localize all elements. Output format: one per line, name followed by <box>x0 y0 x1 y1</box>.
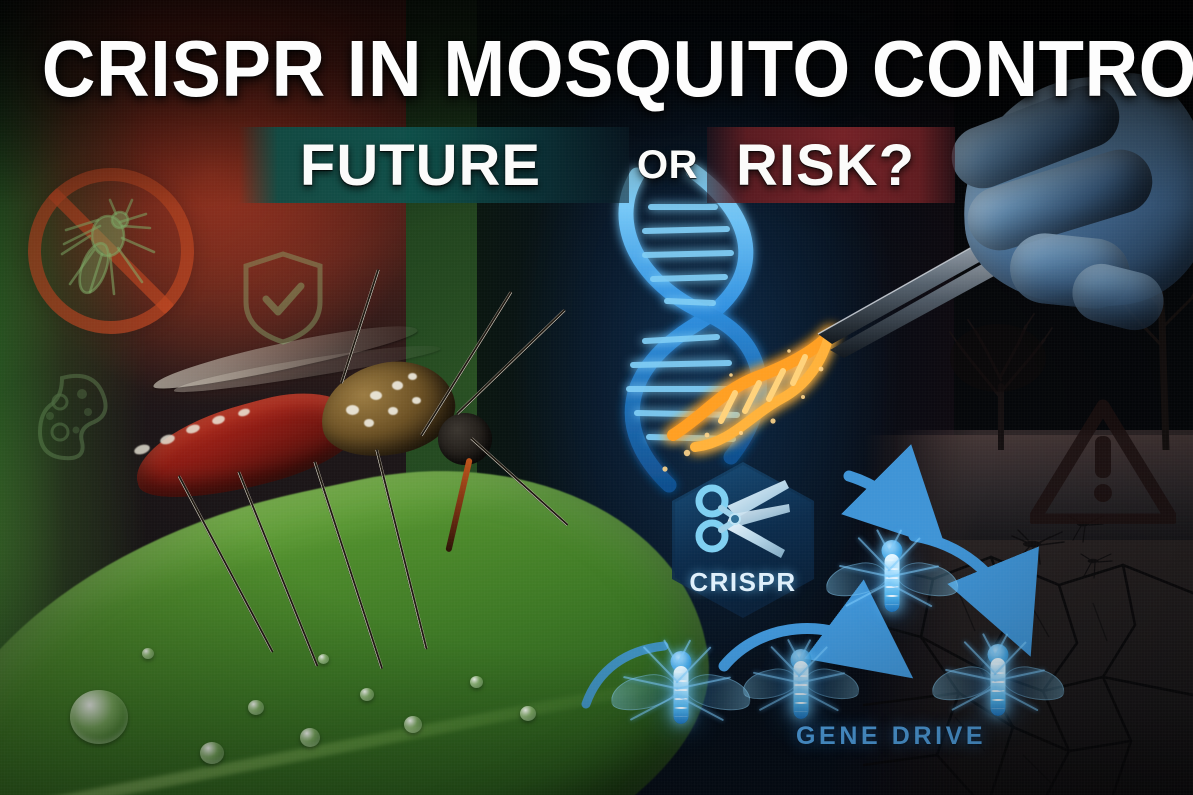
mosquito-spot <box>412 397 421 404</box>
mosquito-photo <box>120 285 550 685</box>
subtitle-row: FUTURE OR RISK? <box>0 127 1193 203</box>
mosquito-leg <box>313 461 383 669</box>
mosquito-wing <box>608 669 679 715</box>
water-droplet <box>70 690 128 744</box>
mosquito-wing <box>739 664 799 702</box>
scissors-icon <box>693 478 793 564</box>
mosquito-head <box>438 413 492 465</box>
mosquito-spot <box>370 391 382 400</box>
poster-canvas: CRISPR GENE DRIVE CRISPR IN MOSQUITO CON… <box>0 0 1193 795</box>
mosquito-silhouette-1 <box>1010 528 1068 566</box>
mosquito-spot <box>408 373 417 380</box>
mosquito-spot <box>392 381 403 390</box>
page-title: CRISPR IN MOSQUITO CONTROL <box>42 30 1151 108</box>
mosquito-wing <box>928 662 996 705</box>
water-droplet <box>200 742 224 764</box>
mosquito-leg <box>177 475 274 653</box>
subtitle-future-band: FUTURE <box>239 127 629 203</box>
crispr-badge-label: CRISPR <box>672 567 814 598</box>
subtitle-conjunction: OR <box>629 127 707 203</box>
mosquito-silhouette-3 <box>1078 550 1114 580</box>
mosquito-wing <box>822 558 890 601</box>
mosquito-proboscis <box>445 458 472 553</box>
water-droplet <box>360 688 374 701</box>
gene-drive-label: GENE DRIVE <box>796 722 986 751</box>
water-droplet <box>404 716 422 733</box>
mosquito-wing <box>894 558 962 601</box>
mosquito-leg <box>375 449 428 650</box>
mosquito-spot <box>388 407 398 415</box>
water-droplet <box>520 706 536 721</box>
gene-drive-mosquito <box>832 528 952 648</box>
warning-triangle-icon <box>1030 398 1176 524</box>
water-droplet <box>248 700 264 715</box>
water-droplet <box>300 728 320 747</box>
mosquito-wing <box>1000 662 1068 705</box>
mosquito-leg <box>237 471 318 667</box>
subtitle-risk-band: RISK? <box>707 127 955 203</box>
mosquito-spot <box>346 405 359 415</box>
mosquito-spot <box>364 419 374 427</box>
gene-drive-mosquito <box>618 638 744 764</box>
crispr-badge: CRISPR <box>672 462 814 618</box>
